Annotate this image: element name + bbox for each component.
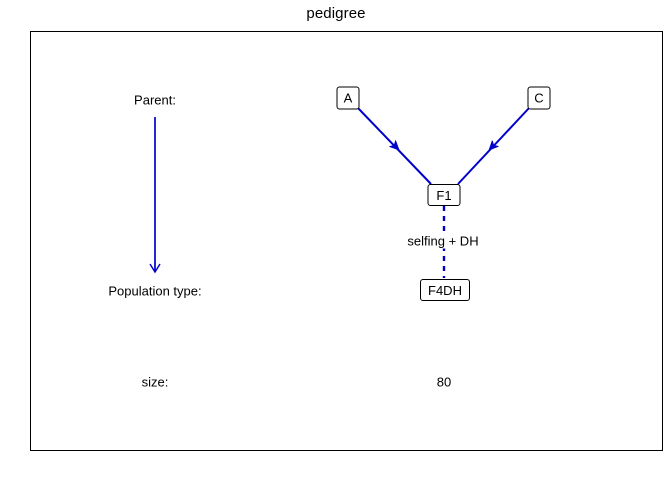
pedigree-diagram-svg — [0, 0, 672, 480]
population-size-value: 80 — [437, 375, 451, 390]
node-parent-c[interactable]: C — [528, 87, 551, 110]
node-parent-a[interactable]: A — [337, 87, 360, 110]
row-label-size: size: — [142, 375, 169, 390]
pedigree-plot-canvas: pedigree Parent: Population type: size: … — [0, 0, 672, 480]
node-f4dh[interactable]: F4DH — [420, 279, 470, 301]
row-label-population-type: Population type: — [108, 284, 201, 299]
node-f1[interactable]: F1 — [428, 184, 461, 206]
edge-c-to-f1 — [458, 107, 530, 184]
edge-label-selfing-dh: selfing + DH — [406, 234, 479, 249]
row-label-parent: Parent: — [134, 93, 176, 108]
edge-a-to-f1 — [357, 107, 431, 184]
